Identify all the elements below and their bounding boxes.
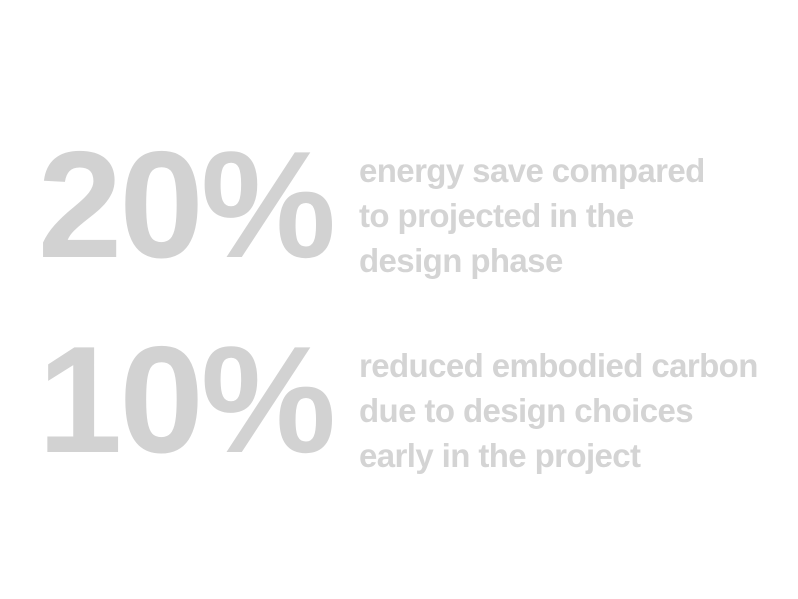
stat-description-line: to projected in the	[359, 193, 705, 238]
stat-description: reduced embodied carbon due to design ch…	[359, 341, 758, 478]
statistics-board: 20% energy save compared to projected in…	[0, 0, 798, 599]
stat-description-line: due to design choices	[359, 388, 758, 433]
stat-figure-value: 10%	[0, 341, 333, 459]
stat-figure-value: 20%	[0, 146, 333, 264]
stat-description-line: energy save compared	[359, 148, 705, 193]
stat-row: 20% energy save compared to projected in…	[0, 146, 705, 283]
stat-description: energy save compared to projected in the…	[359, 146, 705, 283]
stat-description-line: reduced embodied carbon	[359, 343, 758, 388]
stat-row: 10% reduced embodied carbon due to desig…	[0, 341, 758, 478]
stat-description-line: design phase	[359, 238, 705, 283]
stat-description-line: early in the project	[359, 433, 758, 478]
